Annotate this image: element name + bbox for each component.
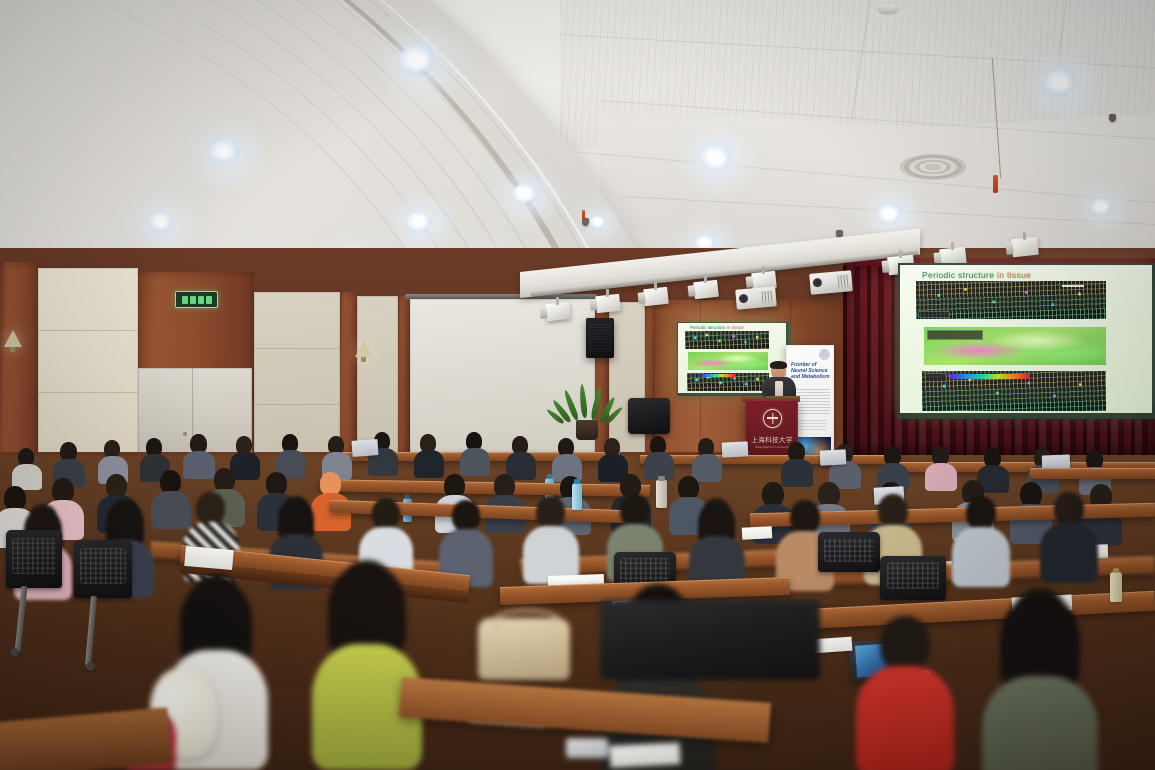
ceiling-projector[interactable]: [735, 286, 777, 309]
exit-sign-glyph: [190, 296, 196, 304]
panel-colorbar: [950, 374, 1030, 379]
downlight[interactable]: [1043, 70, 1077, 97]
downlight[interactable]: [209, 140, 240, 165]
slide-panel-middle-green: [924, 327, 1106, 365]
banner-logo-icon: [819, 349, 830, 360]
downlight[interactable]: [148, 212, 174, 233]
ceiling-projector[interactable]: [809, 270, 853, 295]
lecture-hall-photo: Periodic structure in tissue Periodic st…: [0, 0, 1155, 770]
spotlight-yoke: [951, 242, 954, 250]
sprinkler-head-icon: [582, 218, 589, 226]
downlight[interactable]: [1091, 199, 1112, 216]
red-marker-tag: [993, 175, 998, 193]
smoke-detector-icon: [878, 4, 898, 13]
spotlight-yoke: [762, 266, 765, 274]
exit-sign: [175, 291, 218, 308]
handbag[interactable]: [478, 618, 570, 680]
banner-title: Frontier of Neural Science and Metabolis…: [791, 362, 833, 381]
downlight[interactable]: [406, 212, 432, 233]
sprinkler-head-icon: [1109, 114, 1116, 122]
side-slide-panel-middle: [688, 352, 768, 370]
panel-seam: [38, 392, 138, 393]
panel-seam: [38, 330, 138, 331]
downlight[interactable]: [590, 216, 606, 229]
panel-caption-top: [918, 311, 950, 318]
ceiling-air-vent: [900, 154, 966, 180]
side-slide-panel-bottom: [687, 373, 769, 391]
panel-label-bottom: [925, 373, 947, 382]
front-row-group: [0, 560, 1155, 770]
exit-sign-glyph: [182, 296, 188, 304]
spotlight-yoke: [704, 275, 707, 283]
panel-seam: [254, 404, 340, 405]
downlight[interactable]: [700, 146, 732, 172]
spotlight-yoke: [1023, 232, 1026, 240]
presenter-shirt: [775, 381, 783, 397]
phone-front[interactable]: [566, 738, 608, 758]
exit-sign-glyph: [198, 296, 204, 304]
panel-label-middle: [927, 330, 983, 340]
side-slide-panel-top: [685, 331, 769, 349]
front-chair-back: [600, 600, 820, 680]
wall-sconce-icon: [355, 340, 373, 357]
downlight[interactable]: [512, 184, 538, 205]
downlight[interactable]: [398, 46, 436, 76]
red-marker-tag: [582, 210, 585, 219]
wall-sconce-base: [10, 347, 15, 352]
spotlight-yoke: [654, 282, 657, 290]
main-projection-slide[interactable]: Periodic structure in tissue: [900, 265, 1152, 413]
loudspeaker: [586, 318, 614, 358]
spotlight-yoke: [606, 289, 609, 297]
side-slide-title: Periodic structure in tissue: [690, 325, 744, 330]
banner-line-3: and Metabolism: [791, 374, 833, 380]
spotlight-yoke: [556, 297, 559, 305]
panel-seam: [254, 348, 340, 349]
exit-sign-glyph: [206, 296, 212, 304]
wall-sconce-icon: [4, 330, 22, 347]
downlight[interactable]: [877, 205, 902, 225]
slide-panel-bottom-microscopy: [922, 371, 1106, 411]
spotlight-yoke: [899, 250, 902, 258]
slide-panel-top-microscopy: [916, 281, 1106, 319]
wall-sconce-base: [361, 357, 366, 362]
side-panel-colorbar: [701, 374, 735, 377]
presenter-hair: [770, 361, 787, 369]
slide-title: Periodic structure in tissue: [922, 270, 1031, 280]
papers-front[interactable]: [609, 742, 680, 768]
